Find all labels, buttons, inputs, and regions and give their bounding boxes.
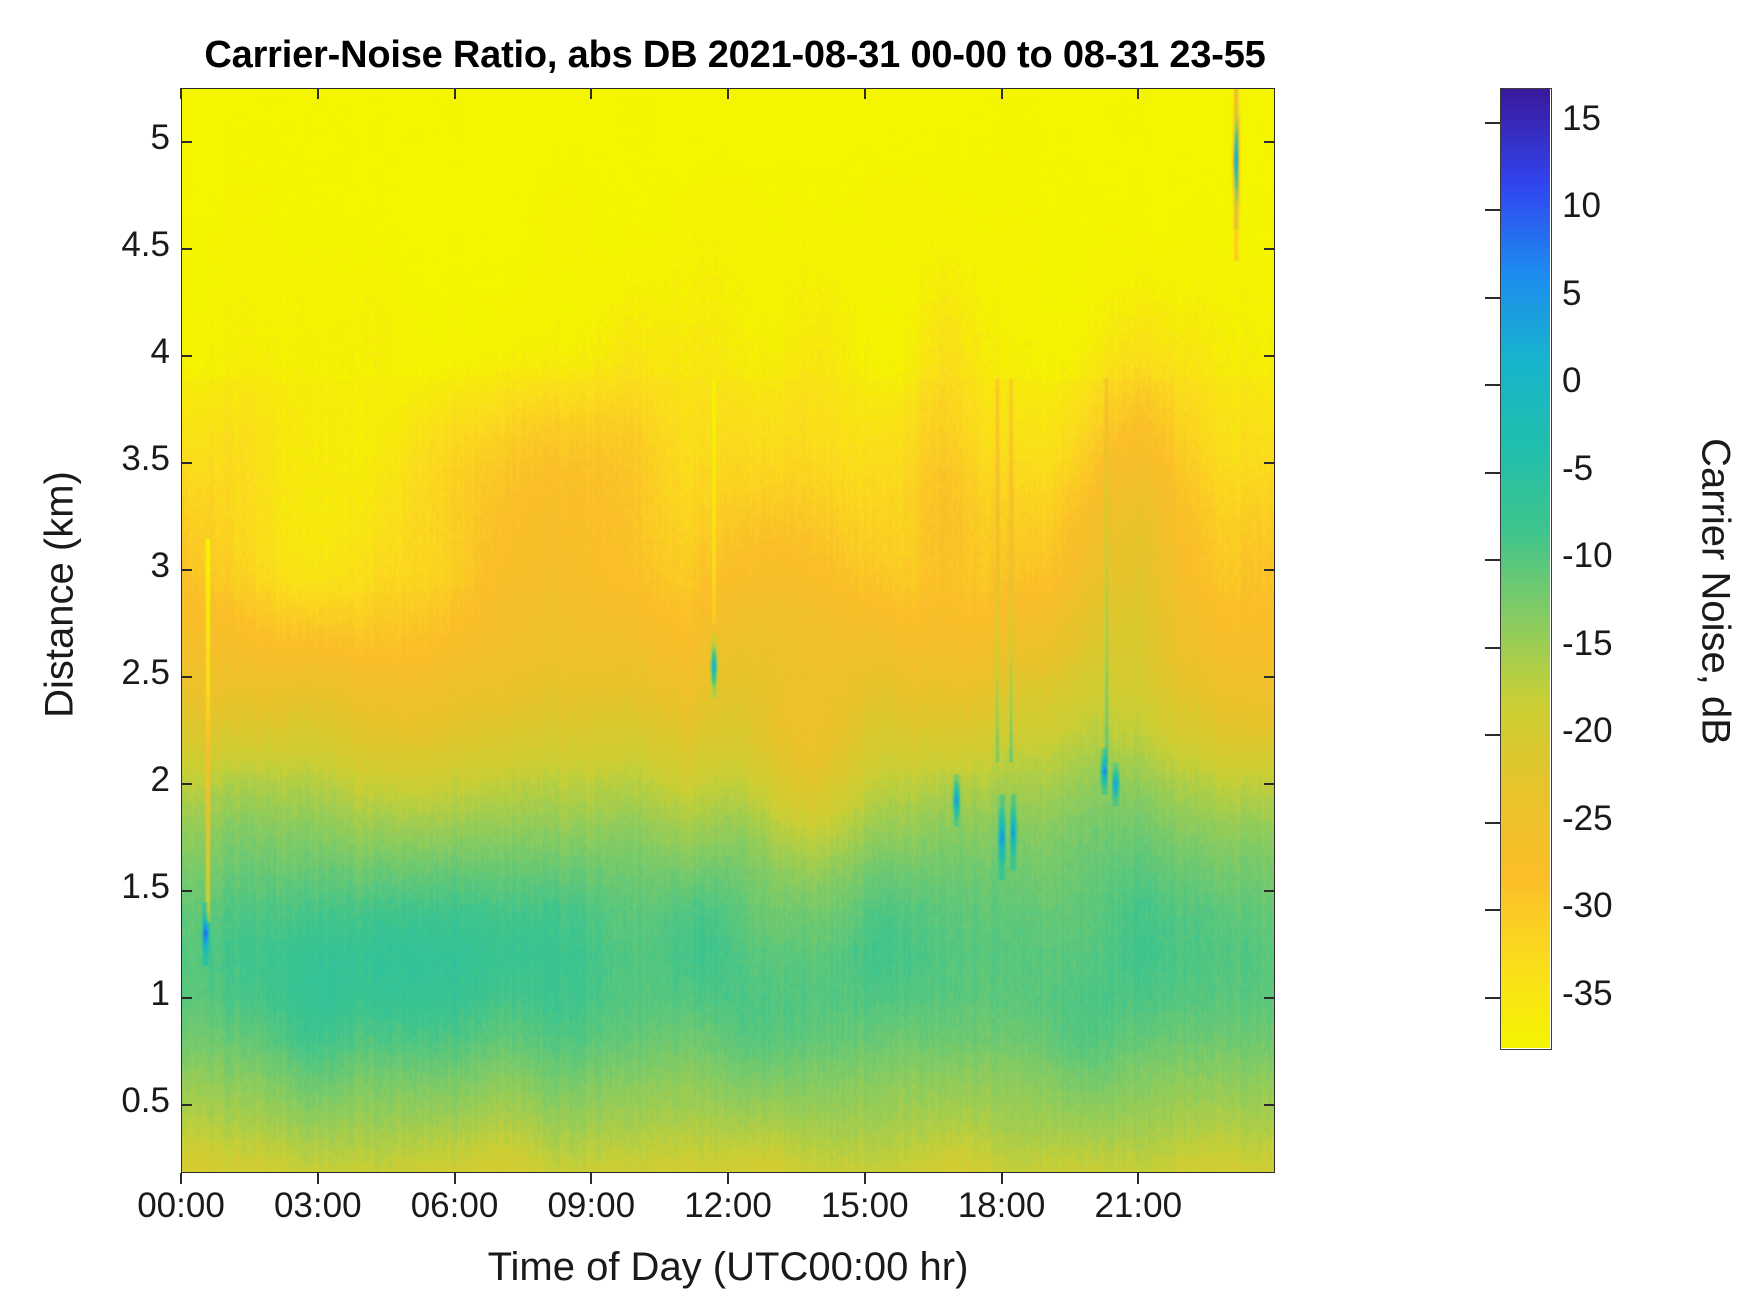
y-tick-mark-right xyxy=(1264,676,1275,678)
y-tick-mark-right xyxy=(1264,462,1275,464)
colorbar-tick-label: 0 xyxy=(1562,361,1581,401)
y-tick-mark xyxy=(181,141,192,143)
x-tick-mark xyxy=(454,1173,456,1184)
y-tick-mark xyxy=(181,890,192,892)
x-tick-mark-top xyxy=(317,88,319,99)
x-tick-mark-top xyxy=(1001,88,1003,99)
x-tick-label: 15:00 xyxy=(821,1186,909,1226)
x-tick-label: 21:00 xyxy=(1094,1186,1182,1226)
y-tick-mark-right xyxy=(1264,248,1275,250)
colorbar-tick-label: -15 xyxy=(1562,624,1613,664)
colorbar-tick-label: -20 xyxy=(1562,711,1613,751)
colorbar-tick-label: -30 xyxy=(1562,886,1613,926)
x-tick-mark xyxy=(727,1173,729,1184)
y-tick-mark xyxy=(181,1104,192,1106)
y-tick-mark-right xyxy=(1264,783,1275,785)
colorbar-tick-mark xyxy=(1485,647,1500,649)
heatmap-axes[interactable] xyxy=(181,88,1275,1173)
x-tick-mark-top xyxy=(727,88,729,99)
y-tick-label: 4 xyxy=(151,332,170,372)
colorbar-tick-mark xyxy=(1485,472,1500,474)
y-tick-mark-right xyxy=(1264,141,1275,143)
colorbar-tick-mark xyxy=(1485,209,1500,211)
y-tick-label: 0.5 xyxy=(121,1081,170,1121)
colorbar-gradient xyxy=(1501,89,1550,1048)
colorbar-tick-mark xyxy=(1485,822,1500,824)
x-tick-mark xyxy=(317,1173,319,1184)
colorbar-tick-label: -5 xyxy=(1562,449,1593,489)
y-tick-label: 2 xyxy=(151,760,170,800)
x-tick-mark-top xyxy=(454,88,456,99)
colorbar-tick-label: 15 xyxy=(1562,99,1601,139)
x-tick-mark xyxy=(590,1173,592,1184)
colorbar-tick-label: 5 xyxy=(1562,274,1581,314)
heatmap-image[interactable] xyxy=(182,89,1275,1173)
y-tick-mark-right xyxy=(1264,890,1275,892)
x-tick-label: 09:00 xyxy=(547,1186,635,1226)
y-tick-label: 5 xyxy=(151,118,170,158)
x-tick-mark xyxy=(1137,1173,1139,1184)
colorbar-tick-mark xyxy=(1485,384,1500,386)
y-tick-mark xyxy=(181,783,192,785)
y-tick-mark-right xyxy=(1264,997,1275,999)
x-tick-label: 03:00 xyxy=(274,1186,362,1226)
y-tick-label: 3.5 xyxy=(121,439,170,479)
colorbar-tick-mark xyxy=(1485,559,1500,561)
x-tick-label: 18:00 xyxy=(958,1186,1046,1226)
x-axis-label: Time of Day (UTC00:00 hr) xyxy=(181,1245,1275,1290)
y-tick-label: 1 xyxy=(151,974,170,1014)
y-tick-mark xyxy=(181,997,192,999)
y-tick-label: 3 xyxy=(151,546,170,586)
x-tick-mark-top xyxy=(590,88,592,99)
x-tick-mark-top xyxy=(1137,88,1139,99)
colorbar-tick-label: 10 xyxy=(1562,186,1601,226)
x-tick-label: 00:00 xyxy=(137,1186,225,1226)
y-tick-mark xyxy=(181,462,192,464)
x-tick-label: 06:00 xyxy=(411,1186,499,1226)
y-tick-mark-right xyxy=(1264,355,1275,357)
y-tick-label: 4.5 xyxy=(121,225,170,265)
colorbar-tick-label: -35 xyxy=(1562,974,1613,1014)
y-tick-mark xyxy=(181,355,192,357)
y-tick-mark xyxy=(181,248,192,250)
x-tick-label: 12:00 xyxy=(684,1186,772,1226)
y-tick-label: 1.5 xyxy=(121,867,170,907)
x-tick-mark-top xyxy=(864,88,866,99)
colorbar-tick-mark xyxy=(1485,297,1500,299)
y-tick-mark-right xyxy=(1264,569,1275,571)
colorbar-label: Carrier Noise, dB xyxy=(1693,272,1738,912)
colorbar-tick-label: -10 xyxy=(1562,536,1613,576)
y-tick-label: 2.5 xyxy=(121,653,170,693)
y-tick-mark xyxy=(181,569,192,571)
figure-canvas: Carrier-Noise Ratio, abs DB 2021-08-31 0… xyxy=(0,0,1750,1313)
figure-title: Carrier-Noise Ratio, abs DB 2021-08-31 0… xyxy=(0,34,1470,77)
x-tick-mark xyxy=(1001,1173,1003,1184)
y-tick-mark-right xyxy=(1264,1104,1275,1106)
colorbar[interactable] xyxy=(1500,88,1552,1050)
colorbar-tick-label: -25 xyxy=(1562,799,1613,839)
colorbar-tick-mark xyxy=(1485,734,1500,736)
y-axis-label: Distance (km) xyxy=(38,275,83,915)
x-tick-mark-top xyxy=(180,88,182,99)
x-tick-mark xyxy=(864,1173,866,1184)
x-tick-mark xyxy=(180,1173,182,1184)
colorbar-tick-mark xyxy=(1485,997,1500,999)
colorbar-tick-mark xyxy=(1485,909,1500,911)
colorbar-tick-mark xyxy=(1485,122,1500,124)
y-tick-mark xyxy=(181,676,192,678)
